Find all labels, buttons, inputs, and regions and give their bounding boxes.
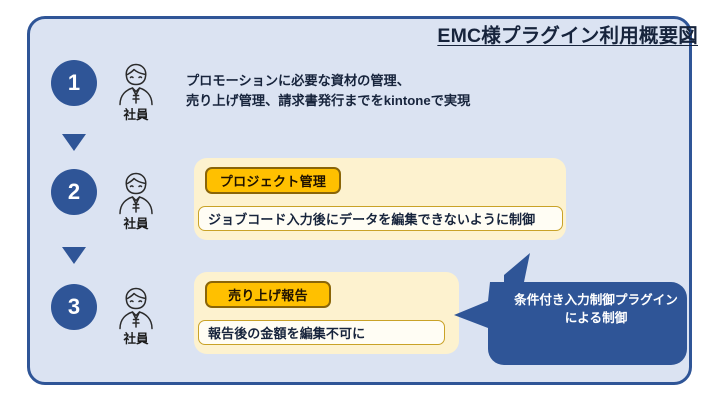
page-title: EMC様プラグイン利用概要図 bbox=[437, 19, 698, 48]
person-label-1: 社員 bbox=[123, 109, 148, 123]
down-triangle-icon bbox=[62, 134, 86, 151]
plugin-callout: 条件付き入力制御プラグイン による制御 bbox=[452, 253, 687, 365]
person-icon-group-1: 社員 bbox=[108, 62, 164, 123]
employee-person-icon bbox=[114, 171, 158, 217]
step-1-description: プロモーションに必要な資材の管理、 売り上げ管理、請求書発行までをkintone… bbox=[186, 71, 470, 112]
down-triangle-icon bbox=[62, 247, 86, 264]
step-number-1: 1 bbox=[68, 72, 80, 94]
callout-label: 条件付き入力制御プラグイン による制御 bbox=[510, 291, 682, 328]
step-circle-3: 3 bbox=[51, 284, 97, 330]
detail-box-step-3: 報告後の金額を編集不可に bbox=[198, 320, 445, 345]
person-icon-group-2: 社員 bbox=[108, 171, 164, 232]
person-label-2: 社員 bbox=[123, 218, 148, 232]
person-icon-group-3: 社員 bbox=[108, 286, 164, 347]
person-label-3: 社員 bbox=[123, 333, 148, 347]
diagram-canvas: EMC様プラグイン利用概要図 1 社員 プロモーションに必要な bbox=[0, 0, 720, 405]
step-circle-1: 1 bbox=[51, 60, 97, 106]
detail-box-step-2: ジョブコード入力後にデータを編集できないように制御 bbox=[198, 206, 563, 231]
tag-sales-report[interactable]: 売り上げ報告 bbox=[205, 281, 331, 308]
employee-person-icon bbox=[114, 62, 158, 108]
step-number-2: 2 bbox=[68, 181, 80, 203]
step-number-3: 3 bbox=[68, 296, 80, 318]
step-circle-2: 2 bbox=[51, 169, 97, 215]
employee-person-icon bbox=[114, 286, 158, 332]
tag-project-management[interactable]: プロジェクト管理 bbox=[205, 167, 341, 194]
